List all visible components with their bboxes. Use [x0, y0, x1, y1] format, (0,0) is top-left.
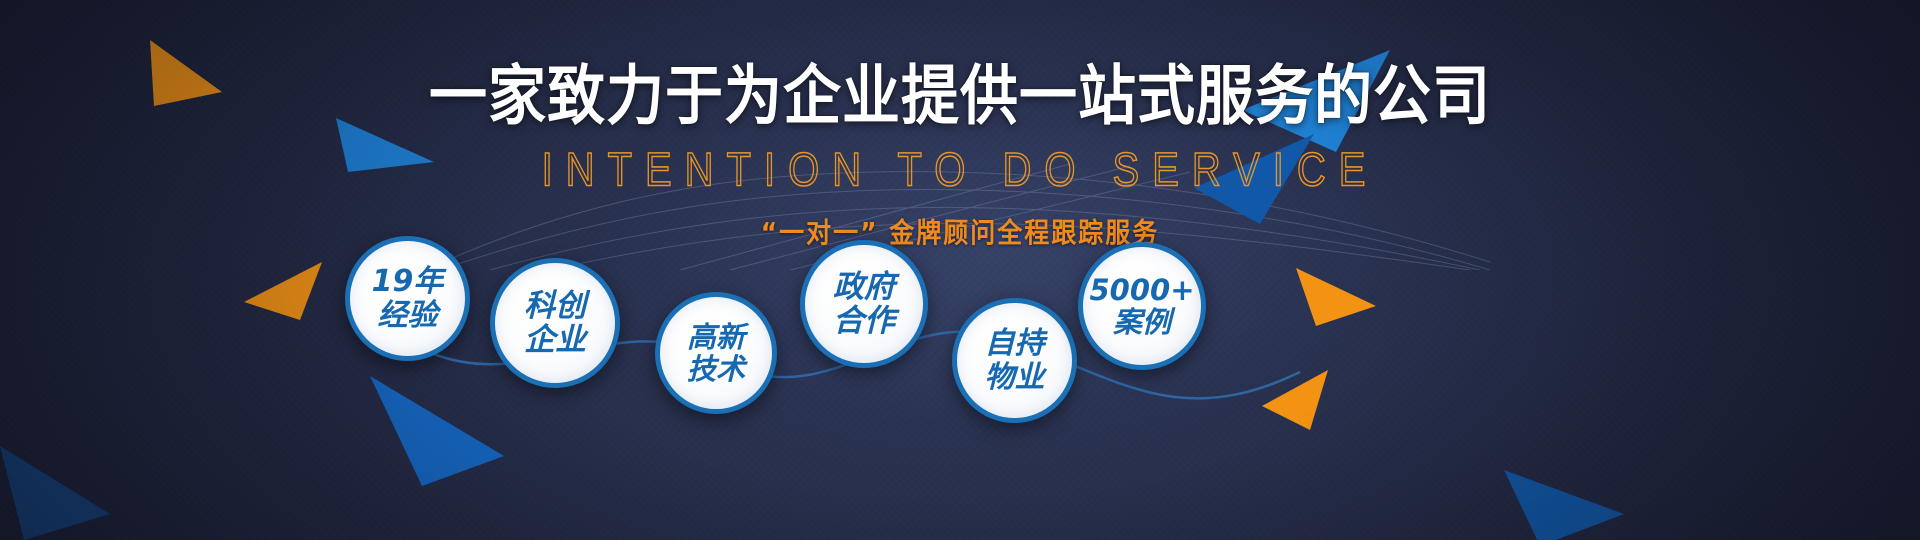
badge-experience-line1: 19年: [372, 266, 444, 297]
badge-government[interactable]: 政府 合作: [800, 240, 928, 368]
badge-own-property-line2: 物业: [985, 362, 1045, 393]
badge-tech-startup-line2: 企业: [524, 324, 586, 356]
badge-own-property[interactable]: 自持 物业: [952, 298, 1077, 423]
badge-high-tech-line1: 高新: [687, 322, 745, 352]
badge-experience-line2: 经验: [378, 300, 438, 331]
badge-cases-line1: 5000+: [1089, 275, 1194, 305]
hero-banner: 一家致力于为企业提供一站式服务的公司 INTENTION TO DO SERVI…: [0, 0, 1920, 540]
badge-experience[interactable]: 19年 经验: [345, 236, 470, 361]
badge-high-tech-line2: 技术: [687, 354, 745, 384]
badge-cases[interactable]: 5000+ 案例: [1078, 242, 1206, 370]
badge-government-line1: 政府: [833, 271, 895, 303]
badge-cases-line2: 案例: [1113, 307, 1171, 337]
badge-high-tech[interactable]: 高新 技术: [655, 292, 777, 414]
badge-own-property-line1: 自持: [985, 328, 1045, 359]
badge-tech-startup[interactable]: 科创 企业: [490, 258, 620, 388]
feature-badges: 19年 经验 科创 企业 高新 技术 政府 合作 自持 物业 5000+ 案例: [0, 0, 1920, 540]
badge-tech-startup-line1: 科创: [524, 290, 586, 322]
badge-government-line2: 合作: [833, 305, 895, 337]
